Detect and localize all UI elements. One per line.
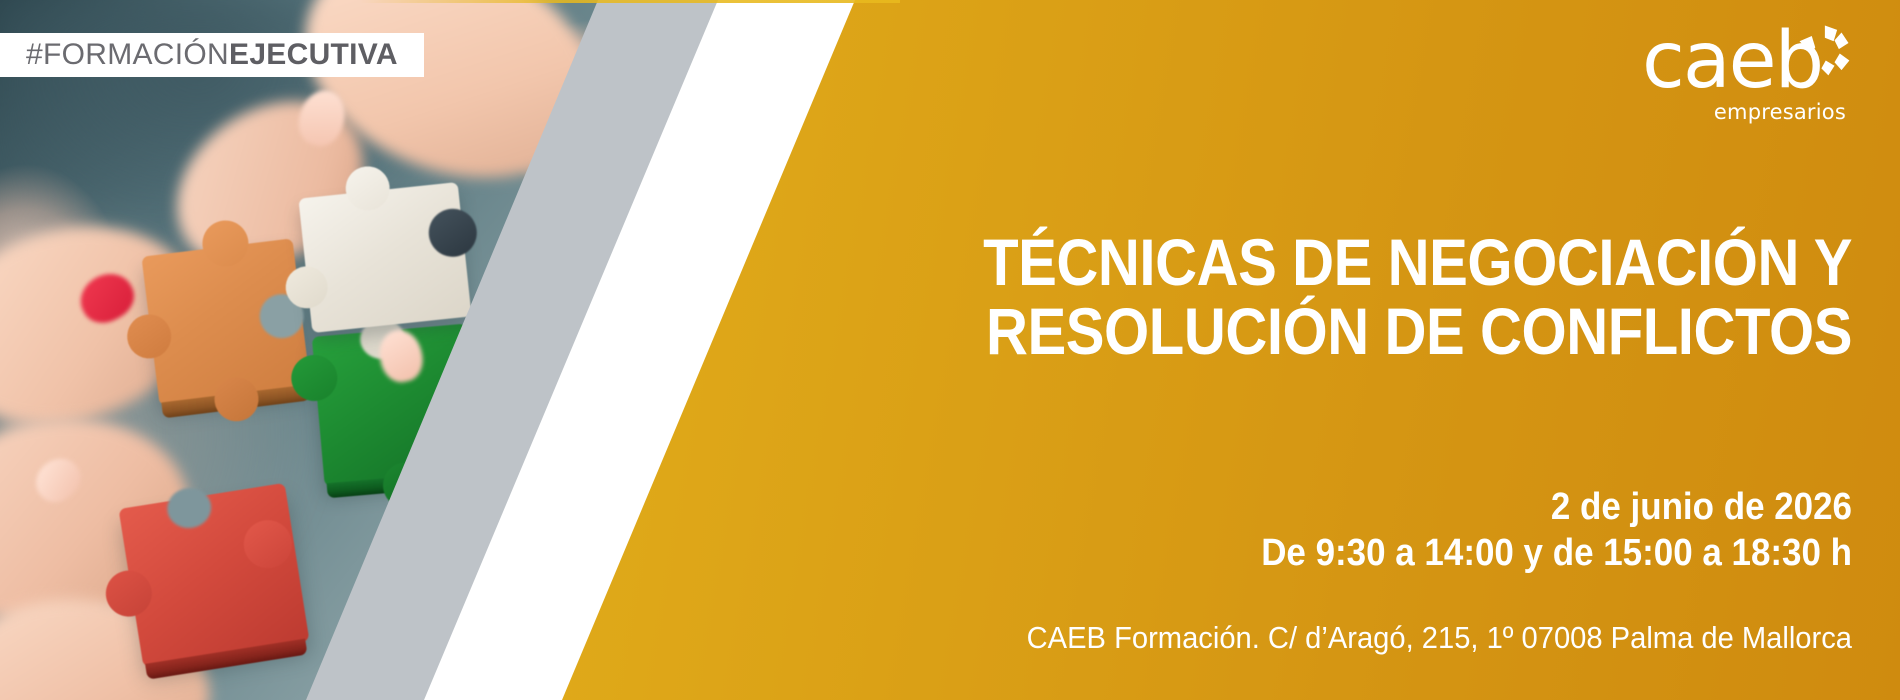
hashtag-tag-label: #FORMACIÓNEJECUTIVA — [26, 38, 398, 72]
hashtag-tag-suffix: EJECUTIVA — [229, 38, 398, 71]
puzzle-piece-orange — [141, 238, 310, 405]
course-banner: #FORMACIÓNEJECUTIVA caeb empresarios TÉC… — [0, 0, 1900, 700]
course-title-line-1: TÉCNICAS DE NEGOCIACIÓN Y — [919, 228, 1852, 297]
course-content: TÉCNICAS DE NEGOCIACIÓN Y RESOLUCIÓN DE … — [792, 0, 1852, 700]
puzzle-piece-red — [119, 483, 310, 667]
course-venue: CAEB Formación. C/ d’Aragó, 215, 1º 0700… — [856, 620, 1852, 656]
course-title-line-2: RESOLUCIÓN DE CONFLICTOS — [919, 297, 1852, 366]
hashtag-tag: #FORMACIÓNEJECUTIVA — [0, 33, 424, 77]
top-accent-hairline — [0, 0, 900, 3]
puzzle-piece-white — [298, 182, 471, 333]
hashtag-tag-prefix: #FORMACIÓN — [26, 38, 229, 71]
course-schedule-block: 2 de junio de 2026 De 9:30 a 14:00 y de … — [877, 484, 1852, 577]
course-date: 2 de junio de 2026 — [877, 484, 1852, 530]
course-hours: De 9:30 a 14:00 y de 15:00 a 18:30 h — [877, 530, 1852, 576]
course-title: TÉCNICAS DE NEGOCIACIÓN Y RESOLUCIÓN DE … — [919, 228, 1852, 367]
